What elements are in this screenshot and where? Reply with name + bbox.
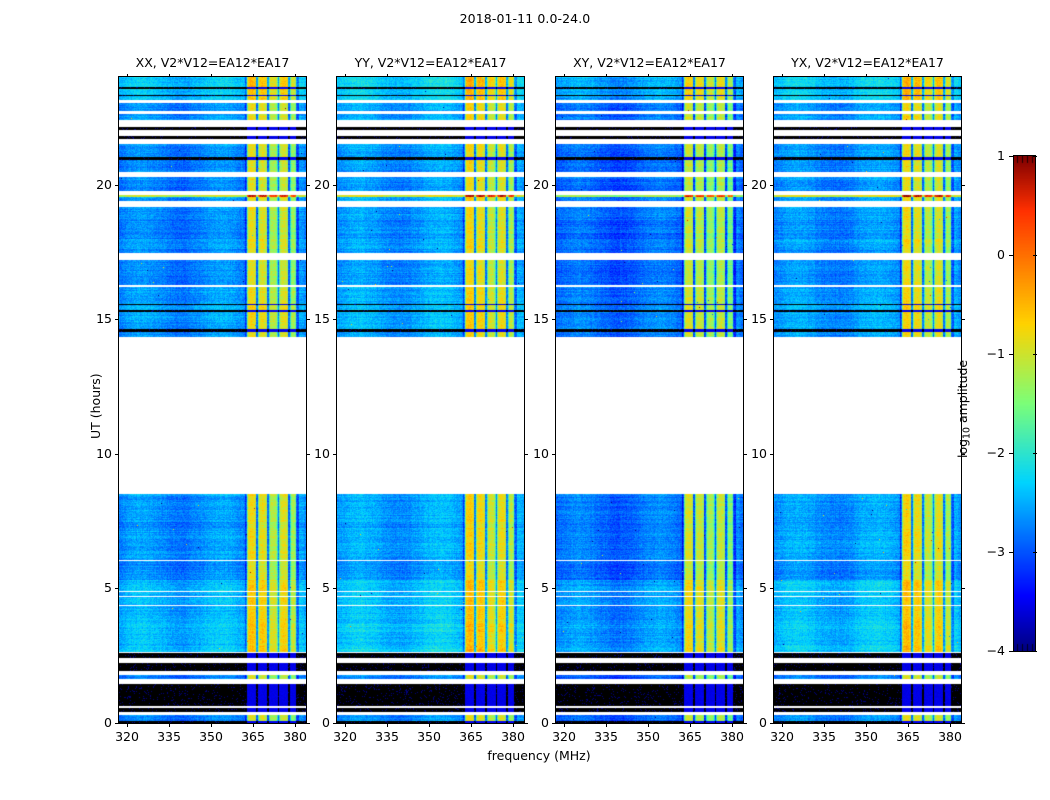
colorbar-tick-mark-right <box>1033 354 1037 355</box>
y-tick-mark <box>115 588 119 589</box>
x-tick-mark-top <box>648 74 649 77</box>
colorbar-tick-mark-right <box>1033 156 1037 157</box>
spectrum-panel-yx[interactable] <box>773 76 962 724</box>
y-tick-label: 5 <box>77 580 112 595</box>
y-tick-mark <box>552 185 556 186</box>
y-tick-mark <box>770 723 774 724</box>
spectrum-panel-xy[interactable] <box>555 76 744 724</box>
x-tick-mark <box>169 723 170 727</box>
x-tick-mark-top <box>127 74 128 77</box>
x-tick-mark-top <box>169 74 170 77</box>
x-tick-mark-top <box>564 74 565 77</box>
y-tick-mark <box>770 185 774 186</box>
x-tick-mark-top <box>295 74 296 77</box>
y-tick-label: 0 <box>77 715 112 730</box>
y-tick-label: 15 <box>514 311 549 326</box>
x-tick-mark-top <box>950 74 951 77</box>
x-tick-mark <box>127 723 128 727</box>
y-tick-mark <box>115 454 119 455</box>
y-tick-mark <box>552 319 556 320</box>
x-tick-mark <box>606 723 607 727</box>
x-tick-label: 380 <box>707 729 757 744</box>
x-axis-label: frequency (MHz) <box>0 748 1050 763</box>
y-tick-label: 15 <box>732 311 767 326</box>
y-axis-label: UT (hours) <box>88 373 103 439</box>
x-tick-mark-top <box>606 74 607 77</box>
panel-title-yx: YX, V2*V12=EA12*EA17 <box>733 55 1002 70</box>
x-tick-mark <box>345 723 346 727</box>
x-tick-mark-top <box>732 74 733 77</box>
colorbar-tick-mark <box>1009 453 1013 454</box>
y-tick-mark <box>115 723 119 724</box>
y-tick-label: 5 <box>732 580 767 595</box>
x-tick-mark-top <box>782 74 783 77</box>
spectrum-panel-yy[interactable] <box>336 76 525 724</box>
x-tick-mark <box>782 723 783 727</box>
x-tick-mark-top <box>211 74 212 77</box>
y-tick-mark <box>333 454 337 455</box>
spectrum-image-yx <box>774 77 961 723</box>
x-tick-mark <box>648 723 649 727</box>
y-tick-label: 20 <box>732 177 767 192</box>
y-tick-mark-right <box>961 723 965 724</box>
y-tick-label: 0 <box>295 715 330 730</box>
colorbar-tick-mark-right <box>1033 453 1037 454</box>
y-tick-label: 0 <box>514 715 549 730</box>
x-tick-mark-top <box>253 74 254 77</box>
y-tick-label: 15 <box>295 311 330 326</box>
y-tick-mark-right <box>961 185 965 186</box>
y-tick-mark <box>333 185 337 186</box>
spectrum-image-xx <box>119 77 306 723</box>
x-tick-mark-top <box>429 74 430 77</box>
colorbar-label: log10 amplitude <box>955 359 972 457</box>
x-tick-label: 380 <box>925 729 975 744</box>
colorbar-gradient <box>1014 156 1035 651</box>
colorbar-tick-mark-right <box>1033 651 1037 652</box>
colorbar-tick-label: −2 <box>967 445 1005 460</box>
x-tick-mark <box>429 723 430 727</box>
x-tick-mark-top <box>387 74 388 77</box>
y-tick-mark <box>552 588 556 589</box>
x-tick-mark-top <box>513 74 514 77</box>
colorbar-label-text: log10 amplitude <box>955 359 970 457</box>
colorbar-tick-mark <box>1009 156 1013 157</box>
x-tick-mark <box>211 723 212 727</box>
colorbar-tick-mark <box>1009 552 1013 553</box>
colorbar[interactable] <box>1013 155 1036 652</box>
x-tick-mark <box>908 723 909 727</box>
y-tick-label: 10 <box>295 446 330 461</box>
y-tick-mark <box>552 454 556 455</box>
x-tick-mark-top <box>866 74 867 77</box>
figure-title: 2018-01-11 0.0-24.0 <box>0 11 1050 26</box>
y-tick-mark <box>333 319 337 320</box>
y-tick-label: 10 <box>732 446 767 461</box>
y-tick-label: 10 <box>514 446 549 461</box>
colorbar-tick-mark <box>1009 354 1013 355</box>
y-tick-mark <box>333 588 337 589</box>
colorbar-tick-label: −3 <box>967 544 1005 559</box>
spectrum-image-xy <box>556 77 743 723</box>
x-tick-mark-top <box>908 74 909 77</box>
y-tick-label: 20 <box>514 177 549 192</box>
x-tick-mark-top <box>824 74 825 77</box>
y-tick-mark <box>770 319 774 320</box>
colorbar-tick-label: 1 <box>967 148 1005 163</box>
y-tick-label: 5 <box>514 580 549 595</box>
y-tick-mark <box>552 723 556 724</box>
x-tick-label: 380 <box>488 729 538 744</box>
y-tick-label: 15 <box>77 311 112 326</box>
x-tick-label: 380 <box>270 729 320 744</box>
y-tick-mark-right <box>961 588 965 589</box>
y-tick-label: 0 <box>732 715 767 730</box>
x-tick-mark <box>866 723 867 727</box>
x-tick-mark-top <box>345 74 346 77</box>
y-tick-mark <box>770 588 774 589</box>
y-tick-label: 5 <box>295 580 330 595</box>
colorbar-tick-mark <box>1009 255 1013 256</box>
x-tick-mark <box>564 723 565 727</box>
y-tick-mark <box>115 185 119 186</box>
x-tick-mark <box>950 723 951 727</box>
y-tick-mark <box>333 723 337 724</box>
spectrum-panel-xx[interactable] <box>118 76 307 724</box>
y-tick-mark <box>115 319 119 320</box>
x-tick-mark-top <box>471 74 472 77</box>
x-tick-mark <box>387 723 388 727</box>
x-tick-mark <box>690 723 691 727</box>
colorbar-tick-label: −4 <box>967 643 1005 658</box>
colorbar-tick-mark-right <box>1033 552 1037 553</box>
y-tick-label: 20 <box>77 177 112 192</box>
spectrum-image-yy <box>337 77 524 723</box>
colorbar-tick-label: −1 <box>967 346 1005 361</box>
y-tick-mark <box>770 454 774 455</box>
x-tick-mark-top <box>690 74 691 77</box>
colorbar-tick-mark-right <box>1033 255 1037 256</box>
y-tick-mark-right <box>961 319 965 320</box>
colorbar-tick-label: 0 <box>967 247 1005 262</box>
y-tick-label: 20 <box>295 177 330 192</box>
y-tick-label: 10 <box>77 446 112 461</box>
x-tick-mark <box>824 723 825 727</box>
colorbar-tick-mark <box>1009 651 1013 652</box>
x-tick-mark <box>253 723 254 727</box>
x-tick-mark <box>471 723 472 727</box>
